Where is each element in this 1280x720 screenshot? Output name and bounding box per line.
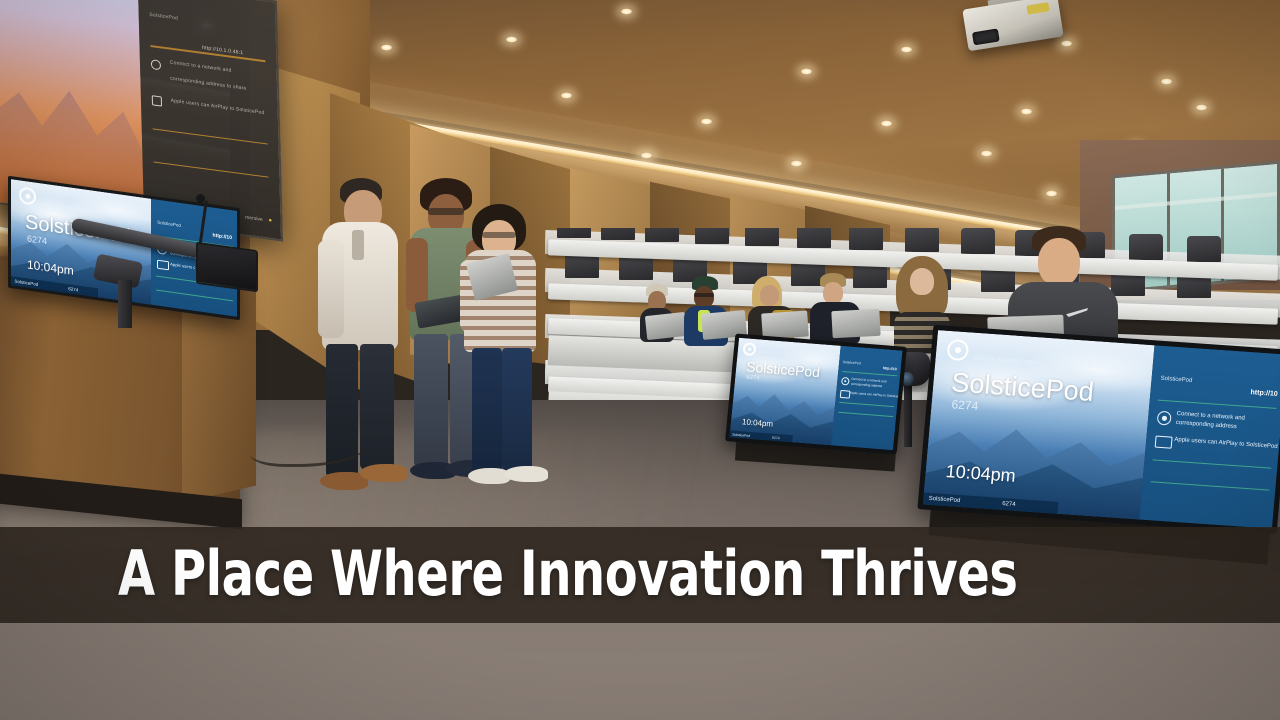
eyeglasses	[482, 232, 516, 238]
display-bottombar-left: SolsticePod	[730, 432, 751, 438]
projection-panel-name: SolsticePod	[149, 12, 178, 22]
display-main[interactable]: solstice wireless display - Unable to re…	[917, 325, 1280, 534]
screen-icon	[839, 390, 850, 398]
display-panel-name: SolsticePod	[1160, 376, 1192, 384]
display-panel-name: SolsticePod	[843, 360, 861, 365]
shoe	[504, 466, 548, 482]
display-instruction-1b: corresponding address	[1176, 420, 1237, 430]
page-title-text: A Place Where Innovation Thrives	[118, 537, 1017, 610]
slide-canvas: SolsticePod Connect to a network and cor…	[0, 0, 1280, 720]
projection-brand-label: mersive	[245, 214, 263, 222]
display-bottombar-right: 6274	[960, 498, 1016, 508]
shoe	[360, 464, 408, 482]
microphone-capsule	[196, 194, 205, 203]
display-panel-url: http://10	[1250, 389, 1278, 398]
display-middle[interactable]: solstice wireless display - Unable to re…	[725, 334, 907, 455]
document-camera-post	[118, 280, 132, 328]
eyeglasses	[428, 208, 464, 215]
solstice-logo-icon	[841, 377, 850, 386]
leg	[360, 344, 394, 470]
screen-icon	[1155, 436, 1173, 449]
title-band: A Place Where Innovation Thrives	[0, 527, 1280, 623]
projection-instruction-1: Connect to a network and	[170, 59, 232, 73]
laptop	[831, 309, 880, 338]
solstice-logo-icon	[151, 59, 161, 70]
display-bottombar-left: SolsticePod	[923, 495, 961, 504]
laptop	[645, 312, 687, 340]
arm	[318, 240, 344, 338]
projection-instruction-3: Apple users can AirPlay to SolsticePod	[171, 97, 265, 115]
screen-icon	[151, 95, 161, 106]
solstice-logo-icon	[1157, 411, 1172, 426]
shoe	[468, 468, 510, 484]
leg	[472, 348, 502, 474]
display-instruction-2a: Apple users can AirPlay to SolsticePod	[1174, 437, 1278, 450]
page-title: A Place Where Innovation Thrives	[118, 537, 1164, 610]
display-room-code: 6274	[951, 397, 979, 413]
display-panel-name: SolsticePod	[157, 220, 181, 228]
leg	[414, 334, 448, 468]
projection-instruction-2: corresponding address to share	[170, 76, 246, 92]
display-instruction-2a: Apple users can AirPlay to SolsticePod	[850, 391, 903, 399]
leg	[502, 348, 532, 472]
display-bottombar-right: 6274	[750, 433, 780, 439]
display-panel-url: http://10	[213, 232, 232, 241]
display-panel-url: http://10	[883, 366, 897, 371]
display-bottombar-left: SolsticePod	[11, 278, 38, 287]
screen-icon	[157, 260, 169, 271]
mersive-logo-icon: ●	[268, 218, 272, 225]
display-room-code: 6274	[746, 374, 760, 381]
podium-monitor[interactable]	[196, 242, 258, 293]
